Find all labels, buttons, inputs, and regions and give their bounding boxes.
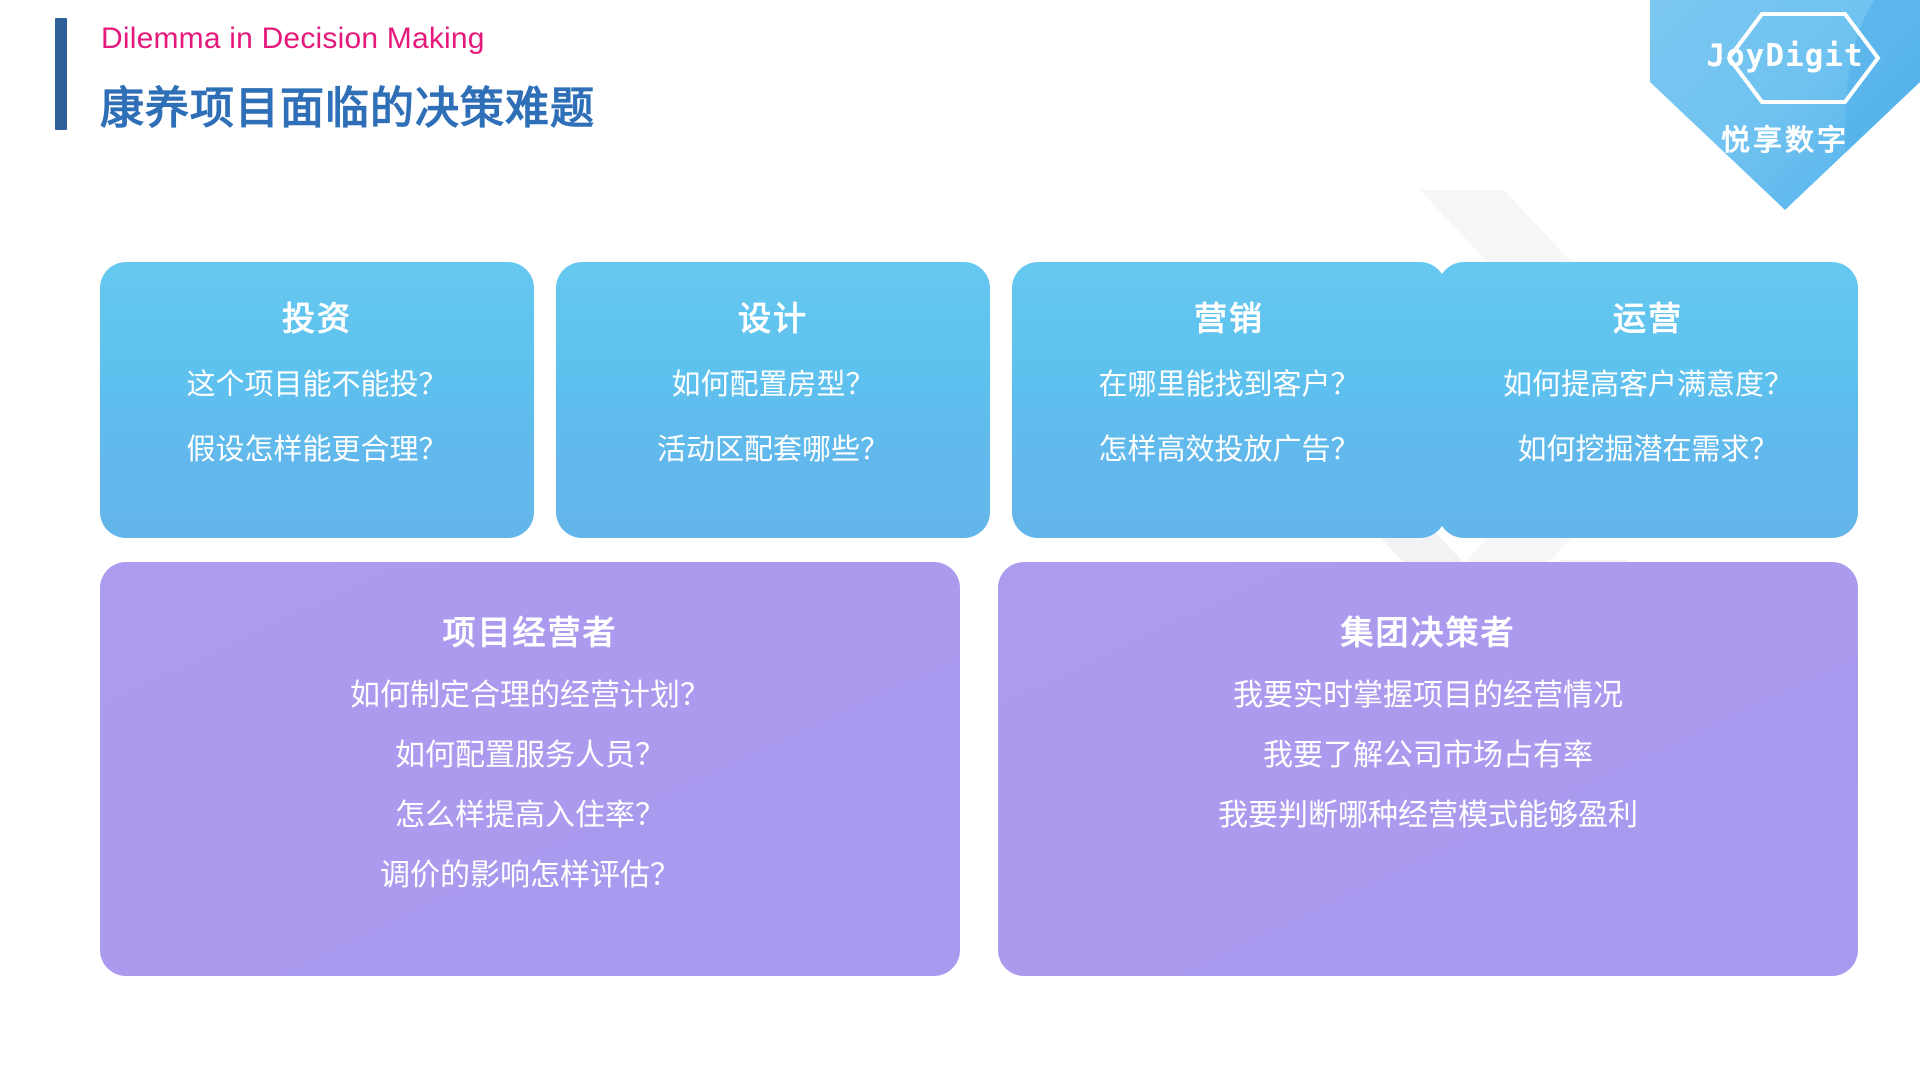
eyebrow-text: Dilemma in Decision Making [101, 22, 485, 56]
page-title: 康养项目面临的决策难题 [100, 72, 595, 136]
card-title: 营销 [1194, 302, 1264, 335]
card-line: 在哪里能找到客户？ [1098, 371, 1359, 400]
card-lines: 如何提高客户满意度？ 如何挖掘潜在需求？ [1503, 371, 1793, 465]
card-line: 如何制定合理的经营计划？ [350, 681, 710, 711]
card-lines: 这个项目能不能投？ 假设怎样能更合理？ [186, 371, 447, 465]
slide-root: Dilemma in Decision Making 康养项目面临的决策难题 [0, 0, 1920, 1080]
card-lines: 如何配置房型？ 活动区配套哪些？ [657, 371, 889, 465]
card-line: 如何配置房型？ [671, 371, 874, 400]
card-line: 这个项目能不能投？ [186, 371, 447, 400]
card-line: 我要了解公司市场占有率 [1263, 741, 1593, 771]
card-lines: 如何制定合理的经营计划？ 如何配置服务人员？ 怎么样提高入住率？ 调价的影响怎样… [350, 681, 710, 891]
card-line: 怎么样提高入住率？ [395, 801, 665, 831]
card-lines: 在哪里能找到客户？ 怎样高效投放广告？ [1098, 371, 1359, 465]
logo-chinese-name: 悦享数字 [1650, 117, 1920, 159]
card-title: 投资 [282, 302, 352, 335]
card-line: 调价的影响怎样评估？ [380, 861, 680, 891]
brand-logo: JoyDigit 悦享数字 [1650, 0, 1920, 212]
category-card-design[interactable]: 设计 如何配置房型？ 活动区配套哪些？ [556, 262, 990, 538]
role-card-project-operator[interactable]: 项目经营者 如何制定合理的经营计划？ 如何配置服务人员？ 怎么样提高入住率？ 调… [100, 562, 960, 976]
category-card-marketing[interactable]: 营销 在哪里能找到客户？ 怎样高效投放广告？ [1012, 262, 1446, 538]
card-title: 设计 [738, 302, 808, 335]
card-lines: 我要实时掌握项目的经营情况 我要了解公司市场占有率 我要判断哪种经营模式能够盈利 [1218, 681, 1638, 831]
card-line: 怎样高效投放广告？ [1098, 436, 1359, 465]
card-title: 项目经营者 [443, 616, 618, 649]
card-line: 活动区配套哪些？ [657, 436, 889, 465]
category-card-operations[interactable]: 运营 如何提高客户满意度？ 如何挖掘潜在需求？ [1438, 262, 1858, 538]
card-line: 我要实时掌握项目的经营情况 [1233, 681, 1623, 711]
logo-wordmark: JoyDigit [1650, 38, 1920, 74]
title-accent-bar [55, 18, 67, 130]
card-line: 如何配置服务人员？ [395, 741, 665, 771]
role-card-group-decision-maker[interactable]: 集团决策者 我要实时掌握项目的经营情况 我要了解公司市场占有率 我要判断哪种经营… [998, 562, 1858, 976]
card-line: 如何提高客户满意度？ [1503, 371, 1793, 400]
card-line: 假设怎样能更合理？ [186, 436, 447, 465]
category-card-investment[interactable]: 投资 这个项目能不能投？ 假设怎样能更合理？ [100, 262, 534, 538]
card-title: 集团决策者 [1341, 616, 1516, 649]
card-title: 运营 [1613, 302, 1683, 335]
card-line: 如何挖掘潜在需求？ [1517, 436, 1778, 465]
card-line: 我要判断哪种经营模式能够盈利 [1218, 801, 1638, 831]
slide-header: Dilemma in Decision Making 康养项目面临的决策难题 [0, 0, 1920, 170]
